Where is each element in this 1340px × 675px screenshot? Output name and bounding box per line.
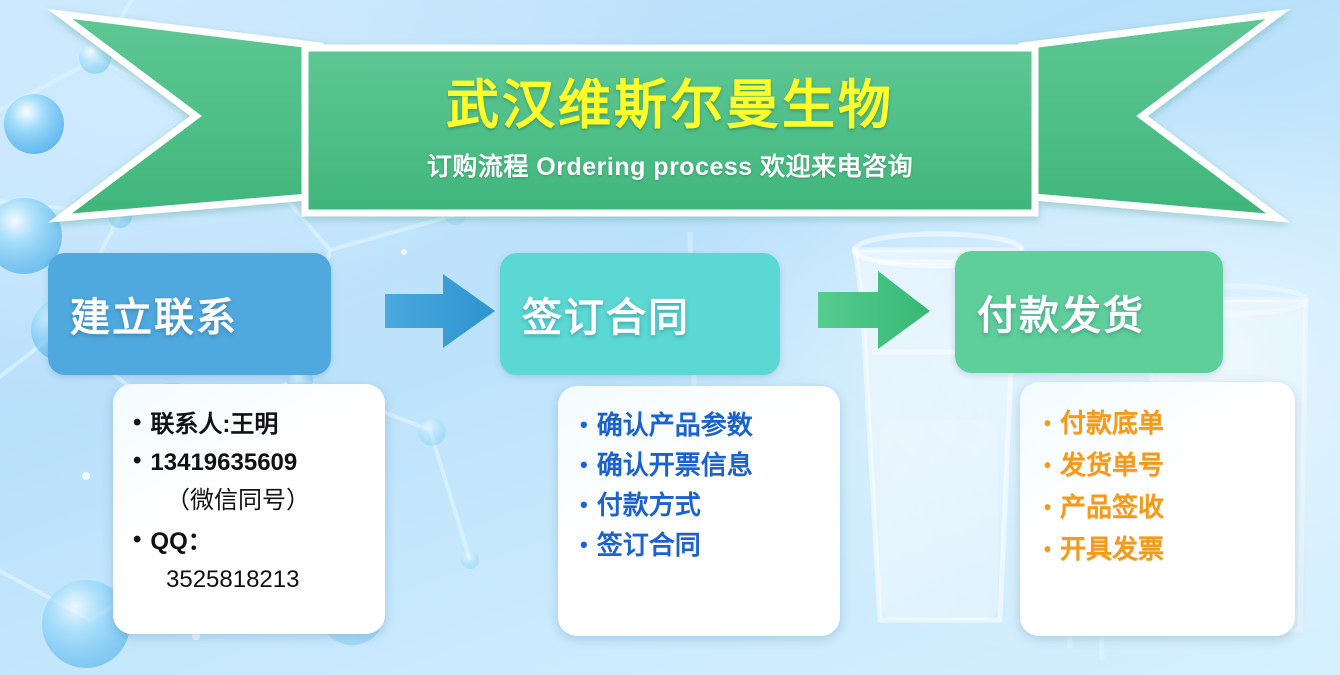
list-item-label: 产品签收 bbox=[1060, 492, 1164, 522]
arrow-step2-to-step3-icon bbox=[818, 269, 930, 351]
list-item-label: 发货单号 bbox=[1060, 450, 1164, 480]
bullet-icon: • bbox=[1044, 456, 1051, 476]
company-title: 武汉维斯尔曼生物 bbox=[446, 78, 894, 134]
bullet-icon: • bbox=[1044, 414, 1051, 434]
list-item-label: 开具发票 bbox=[1060, 534, 1164, 564]
ribbon-tail-right bbox=[1022, 14, 1278, 218]
step-1-header: 建立联系 bbox=[48, 253, 331, 375]
bullet-icon: • bbox=[580, 494, 588, 516]
step-card-sign-contract[interactable]: 签订合同 • 确认产品参数 • 确认开票信息 • 付款方式 bbox=[500, 253, 840, 645]
step-card-payment-shipping[interactable]: 付款发货 • 付款底单 • 发货单号 • 产品签收 bbox=[955, 251, 1295, 646]
step-1-list: • 联系人:王明 • 13419635609 （微信同号） • QQ： 3525… bbox=[133, 410, 375, 595]
step-card-establish-contact[interactable]: 建立联系 • 联系人:王明 • 13419635609 （微信同号） • QQ： bbox=[48, 253, 393, 645]
list-item-label: 确认产品参数 bbox=[597, 410, 753, 440]
list-item: • 联系人:王明 bbox=[133, 410, 375, 440]
bullet-icon: • bbox=[133, 528, 141, 552]
list-item: • 13419635609 bbox=[133, 448, 375, 478]
step-3-heading: 付款发货 bbox=[955, 283, 1145, 341]
bullet-icon: • bbox=[580, 414, 588, 436]
step-1-details: • 联系人:王明 • 13419635609 （微信同号） • QQ： 3525… bbox=[113, 384, 385, 634]
bullet-icon: • bbox=[133, 449, 141, 473]
bullet-icon: • bbox=[580, 534, 588, 556]
process-steps: 建立联系 • 联系人:王明 • 13419635609 （微信同号） • QQ： bbox=[0, 232, 1340, 675]
bullet-icon: • bbox=[580, 454, 588, 476]
list-item-sublabel: 3525818213 bbox=[133, 565, 375, 595]
list-item: • 产品签收 bbox=[1044, 492, 1285, 522]
list-item-label: 签订合同 bbox=[597, 530, 701, 560]
step-3-header: 付款发货 bbox=[955, 251, 1223, 373]
list-item-label: 付款方式 bbox=[597, 490, 701, 520]
banner-subtitle: 订购流程 Ordering process 欢迎来电咨询 bbox=[427, 147, 913, 183]
step-3-details: • 付款底单 • 发货单号 • 产品签收 • 开具发票 bbox=[1020, 382, 1295, 636]
list-item: • 签订合同 bbox=[580, 530, 830, 560]
bullet-icon: • bbox=[133, 411, 141, 435]
step-1-heading: 建立联系 bbox=[48, 285, 238, 343]
list-item-label: 付款底单 bbox=[1060, 408, 1164, 438]
list-item-label: 联系人:王明 bbox=[150, 410, 278, 440]
list-item-label: QQ： bbox=[150, 527, 211, 557]
banner-text-block: 武汉维斯尔曼生物 订购流程 Ordering process 欢迎来电咨询 bbox=[305, 48, 1035, 213]
bullet-icon: • bbox=[1044, 540, 1051, 560]
arrow-step1-to-step2-icon bbox=[385, 272, 495, 350]
list-item: • 发货单号 bbox=[1044, 450, 1285, 480]
step-2-heading: 签订合同 bbox=[500, 285, 690, 343]
bullet-icon: • bbox=[1044, 498, 1051, 518]
list-item: • 付款方式 bbox=[580, 490, 830, 520]
list-item-label: 13419635609 bbox=[150, 448, 297, 478]
poster-canvas: 武汉维斯尔曼生物 订购流程 Ordering process 欢迎来电咨询 建立… bbox=[0, 0, 1340, 675]
step-2-details: • 确认产品参数 • 确认开票信息 • 付款方式 • 签订合同 bbox=[558, 386, 840, 636]
list-item-label: 确认开票信息 bbox=[597, 450, 753, 480]
list-item: • QQ： bbox=[133, 527, 375, 557]
list-item: • 确认开票信息 bbox=[580, 450, 830, 480]
step-2-header: 签订合同 bbox=[500, 253, 780, 375]
step-2-list: • 确认产品参数 • 确认开票信息 • 付款方式 • 签订合同 bbox=[580, 410, 830, 561]
list-item: • 付款底单 bbox=[1044, 408, 1285, 438]
step-3-list: • 付款底单 • 发货单号 • 产品签收 • 开具发票 bbox=[1044, 408, 1285, 565]
list-item: • 开具发票 bbox=[1044, 534, 1285, 564]
list-item-sublabel: （微信同号） bbox=[133, 486, 375, 516]
ribbon-tail-left bbox=[60, 14, 320, 218]
list-item: • 确认产品参数 bbox=[580, 410, 830, 440]
